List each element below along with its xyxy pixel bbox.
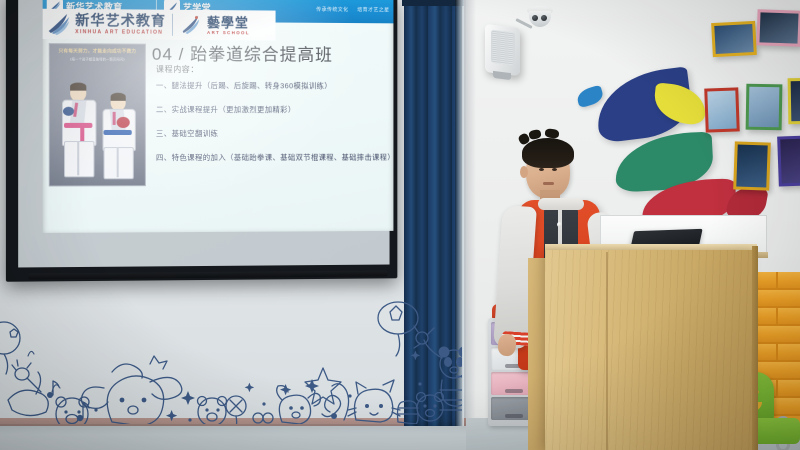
artschool-wordmark-en: ART SCHOOL <box>207 31 250 36</box>
frame-photo <box>780 139 800 184</box>
xinhua-wordmark: 新华艺术教育 XINHUA ART EDUCATION <box>75 13 166 36</box>
slide-bullet: 二、实战课程提升（更加激烈更加精彩） <box>156 104 392 115</box>
presenter-ear <box>520 166 528 178</box>
slide-poster-image: 只有每天努力，才能走向成功不费力 《每一个孩子都是独特的一颗亮闪闪》 <box>49 43 146 186</box>
slide-title-separator: / <box>179 45 185 64</box>
presenter-eye <box>539 168 544 171</box>
xinhua-logo-icon <box>47 12 71 36</box>
camera-lens-icon-2 <box>541 15 547 21</box>
slide-bullet: 一、腿法提升（后踢、后旋踢、转身360模拟训练） <box>156 80 392 92</box>
presenter-eye <box>552 168 557 171</box>
slide-brand-lockup: 新华艺术教育 XINHUA ART EDUCATION 藝學堂 ART SC <box>43 9 276 41</box>
photo-frame <box>711 21 757 57</box>
slide-bullet: 三、基础空翻训练 <box>156 128 392 139</box>
slide-number: 04 <box>152 45 173 64</box>
slide-bullet: 四、特色课程的加入（基础跆拳课、基础双节棍课程、基础摔击课程） <box>156 152 392 163</box>
podium-panel-seam <box>606 252 608 450</box>
presenter-mouth <box>543 182 554 185</box>
poster-figure-right <box>98 95 138 178</box>
cartoon-line-mural <box>0 296 462 424</box>
poster-subline: 《每一个孩子都是独特的一颗亮闪闪》 <box>50 56 145 61</box>
jacket-collar <box>538 198 584 210</box>
photo-frame <box>746 84 783 131</box>
photo-frame <box>733 141 771 190</box>
wall-corner-shadow <box>462 0 476 450</box>
poster-figure-left <box>58 85 99 178</box>
wall-speaker <box>485 24 520 76</box>
projection-screen: 新华艺术教育 艺学堂 传承传统文化 培育才艺之星 <box>6 0 397 282</box>
tagline-left: 传承传统文化 <box>316 7 348 13</box>
camera-lens-icon <box>532 15 538 21</box>
slide-bullet-list: 一、腿法提升（后踢、后旋踢、转身360模拟训练） 二、实战课程提升（更加激烈更加… <box>156 80 392 176</box>
tagline-right: 培育才艺之星 <box>357 7 389 13</box>
artschool-logo-icon <box>179 13 203 37</box>
presentation-slide: 新华艺术教育 艺学堂 传承传统文化 培育才艺之星 <box>43 0 394 233</box>
frame-photo <box>707 91 736 130</box>
lockup-divider <box>172 14 173 36</box>
podium-right-edge <box>752 246 758 450</box>
artschool-wordmark-cn: 藝學堂 <box>207 15 249 30</box>
photo-frame <box>756 9 800 47</box>
frame-photo <box>759 12 798 43</box>
slide-header-tagline: 传承传统文化 培育才艺之星 <box>309 6 389 14</box>
frame-photo <box>736 144 767 187</box>
podium-wood-grain <box>545 250 755 450</box>
jacket-snap-button <box>557 222 562 227</box>
xinhua-wordmark-cn: 新华艺术教育 <box>75 12 166 29</box>
xinhua-wordmark-en: XINHUA ART EDUCATION <box>75 30 166 36</box>
poster-headline: 只有每天努力，才能走向成功不费力 <box>50 48 145 55</box>
frame-photo <box>749 87 780 128</box>
screen-bottom-bar <box>28 270 387 279</box>
wooden-lectern <box>545 250 755 450</box>
slide-subtitle: 课程内容： <box>156 64 199 75</box>
projection-screen-surface: 新华艺术教育 艺学堂 传承传统文化 培育才艺之星 <box>18 0 389 267</box>
artschool-wordmark: 藝學堂 ART SCHOOL <box>207 15 250 36</box>
photo-frame <box>788 78 800 125</box>
presenter-hair <box>522 138 574 168</box>
photo-frame <box>777 135 800 186</box>
slide-title-text: 跆拳道综合提高班 <box>190 45 333 65</box>
frame-photo <box>714 24 753 54</box>
classroom-presentation-photo: 新华艺术教育 艺学堂 传承传统文化 培育才艺之星 <box>0 0 800 450</box>
slide-title-line: 04 / 跆拳道综合提高班 <box>152 40 333 66</box>
photo-frame <box>704 87 740 132</box>
frame-photo <box>791 81 800 121</box>
